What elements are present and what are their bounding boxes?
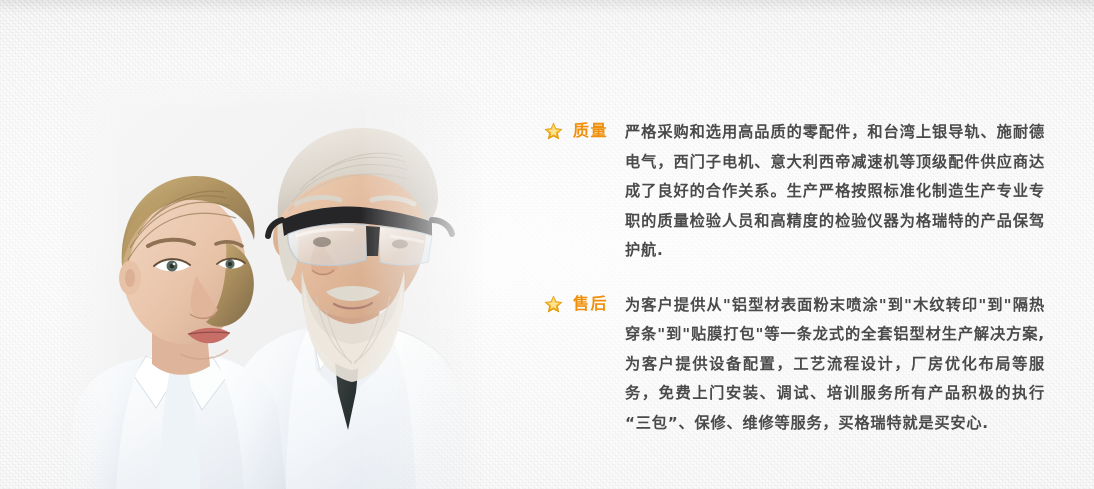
feature-block-quality: 质量 严格采购和选用高品质的零配件，和台湾上银导轨、施耐德电气，西门子电机、意大… [543,118,1063,266]
star-icon [543,294,564,314]
feature-title-quality: 质量 [573,121,608,141]
star-icon [543,121,564,141]
feature-title-aftersales: 售后 [573,294,608,314]
feature-heading-quality: 质量 [543,121,625,141]
feature-block-aftersales: 售后 为客户提供从"铝型材表面粉末喷涂"到"木纹转印"到"隔热穿条"到"贴膜打包… [543,291,1063,439]
feature-body-aftersales: 为客户提供从"铝型材表面粉末喷涂"到"木纹转印"到"隔热穿条"到"贴膜打包"等一… [625,291,1045,439]
feature-body-quality: 严格采购和选用高品质的零配件，和台湾上银导轨、施耐德电气，西门子电机、意大利西帝… [625,118,1045,266]
lab-team-photo [60,70,490,489]
features-content: 质量 严格采购和选用高品质的零配件，和台湾上银导轨、施耐德电气，西门子电机、意大… [543,118,1063,438]
feature-heading-aftersales: 售后 [543,294,625,314]
promo-page: 质量 严格采购和选用高品质的零配件，和台湾上银导轨、施耐德电气，西门子电机、意大… [0,0,1094,489]
top-edge-shadow [0,0,1094,14]
